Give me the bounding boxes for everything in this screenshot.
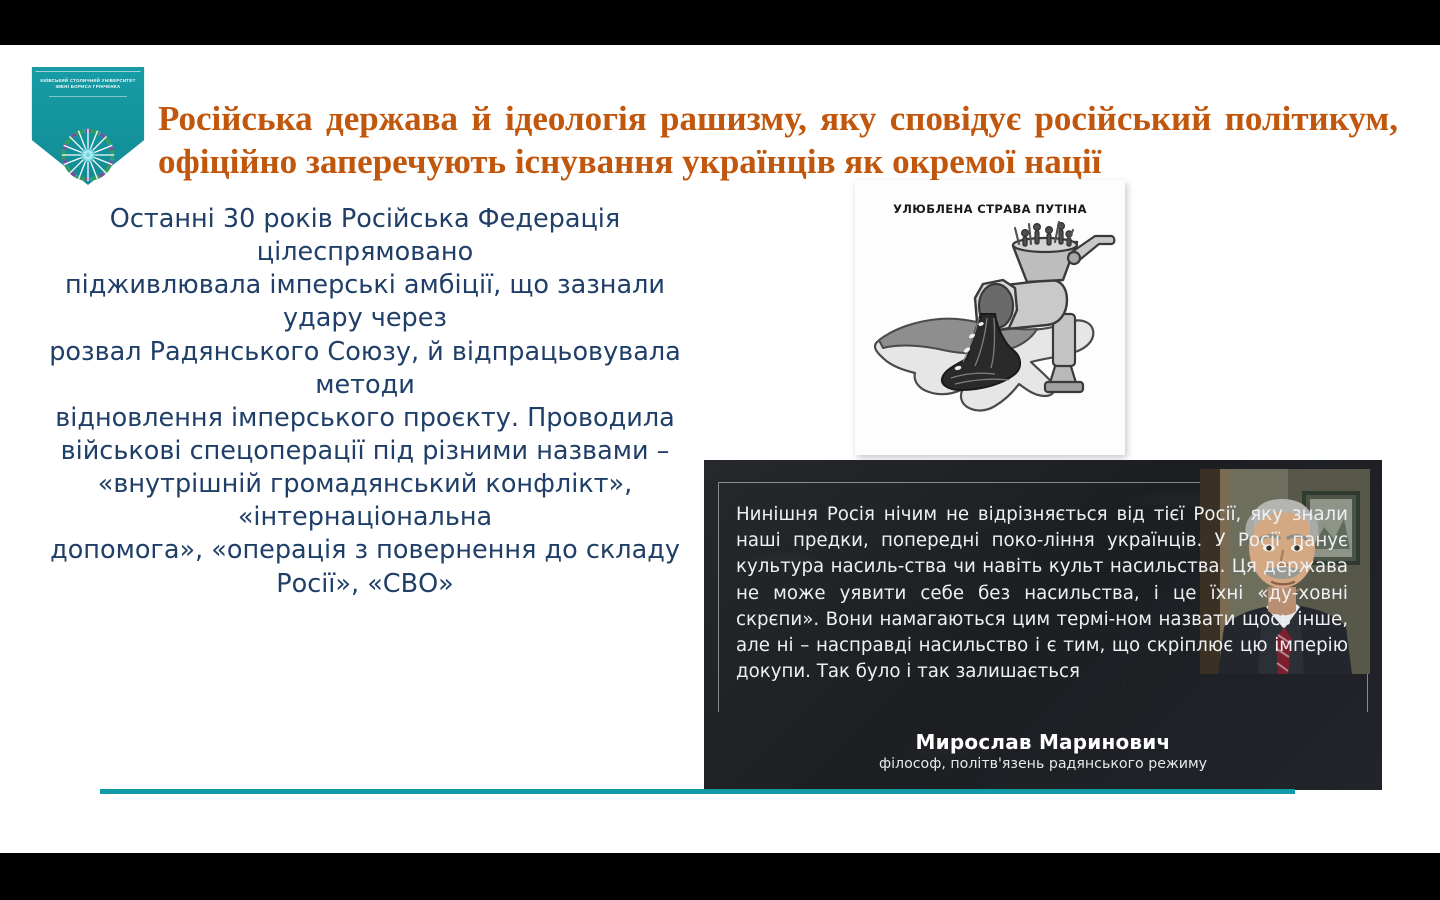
quote-attribution: Мирослав Маринович філософ, політв'язень… <box>704 730 1382 772</box>
presentation-slide: КИЇВСЬКИЙ СТОЛИЧНИЙ УНІВЕРСИТЕТ ІМЕНІ БО… <box>0 45 1440 853</box>
quote-body-text: Нинішня Росія нічим не відрізняється від… <box>736 502 1348 685</box>
slide-body-text: Останні 30 років Російська Федерація ціл… <box>45 203 685 601</box>
meat-grinder-over-ukraine-map-illustration <box>863 218 1117 446</box>
quote-card: Нинішня Росія нічим не відрізняється від… <box>704 460 1382 790</box>
logo-divider <box>49 96 127 97</box>
cartoon-image-card: УЛЮБЛЕНА СТРАВА ПУТІНА <box>855 180 1125 455</box>
logo-text-line-2: ІМЕНІ БОРИСА ГРІНЧЕНКА <box>27 84 149 90</box>
slide-title: Російська держава й ідеологія рашизму, я… <box>158 98 1398 183</box>
slide-stage: КИЇВСЬКИЙ СТОЛИЧНИЙ УНІВЕРСИТЕТ ІМЕНІ БО… <box>0 0 1440 900</box>
cartoon-caption: УЛЮБЛЕНА СТРАВА ПУТІНА <box>855 202 1125 216</box>
grinchenko-star-emblem-icon <box>56 123 120 187</box>
quote-author-role: філософ, політв'язень радянського режиму <box>704 756 1382 772</box>
university-logo: КИЇВСЬКИЙ СТОЛИЧНИЙ УНІВЕРСИТЕТ ІМЕНІ БО… <box>27 67 149 185</box>
quote-author-name: Мирослав Маринович <box>704 730 1382 754</box>
slide-accent-rule <box>100 789 1295 794</box>
